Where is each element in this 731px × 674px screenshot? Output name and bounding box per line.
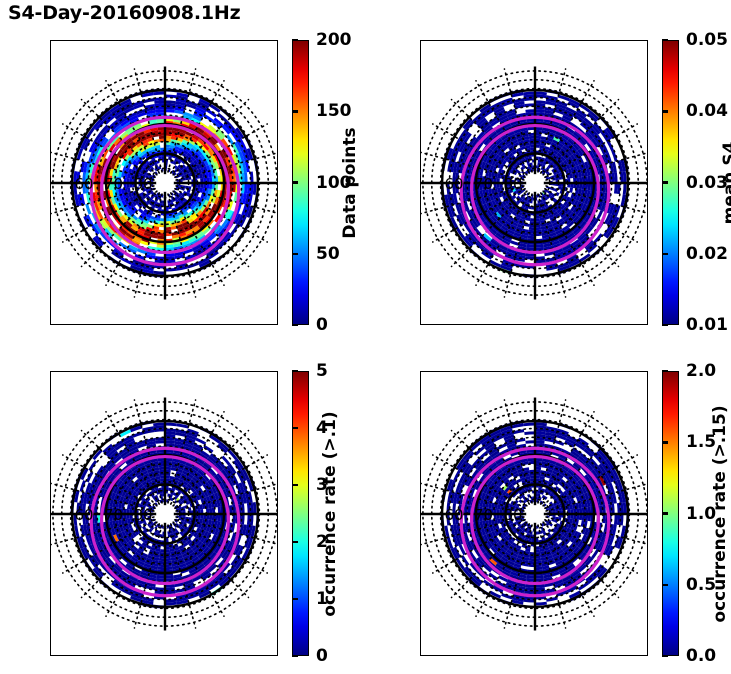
colorbar-tick <box>292 253 298 256</box>
panel-axes-data-points: 607080 <box>50 40 278 325</box>
colorbar-tick <box>662 110 668 113</box>
polar-plot-data-points: 607080 <box>51 41 278 325</box>
colorbar-tick-label: 0.02 <box>686 244 728 264</box>
colorbar-tick <box>662 370 668 373</box>
radial-tick-label: 80 <box>504 506 523 524</box>
radial-tick-label: 80 <box>134 175 153 193</box>
radial-tick-labels: 607080 <box>445 506 523 524</box>
radial-tick-label: 60 <box>75 506 94 524</box>
panel-axes-occurrence-rate-01: 607080 <box>50 371 278 656</box>
colorbar-tick <box>292 427 298 430</box>
polar-plot-mean-s4: 607080 <box>421 41 648 325</box>
colorbar-label-data-points: Data points <box>340 127 360 238</box>
colorbar-tick <box>662 512 668 515</box>
colorbar-occurrence-rate-015: 0.00.51.01.52.0 occurrence rate (>.15) <box>662 371 731 656</box>
colorbar-tick <box>662 39 668 42</box>
radial-tick-label: 80 <box>504 175 523 193</box>
figure-title: S4-Day-20160908.1Hz <box>8 2 240 24</box>
radial-tick-label: 60 <box>445 506 464 524</box>
radial-tick-labels: 607080 <box>75 506 153 524</box>
colorbar-tick-label: 5 <box>316 361 328 381</box>
colorbar-tick <box>292 484 298 487</box>
colorbar-mean-s4: 0.010.020.030.040.05 mean S4 <box>662 40 731 325</box>
figure-root: S4-Day-20160908.1Hz 607080 050100150200 … <box>0 0 731 674</box>
colorbar-tick <box>662 584 668 587</box>
radial-tick-label: 70 <box>104 175 123 193</box>
radial-tick-label: 80 <box>134 506 153 524</box>
colorbar-tick-label: 0.04 <box>686 101 728 121</box>
radial-tick-label: 70 <box>104 506 123 524</box>
colorbar-tick <box>662 324 668 327</box>
colorbar-label-occurrence-rate-01: occurrence rate (>.1) <box>320 411 340 616</box>
colorbar-tick-label: 0.0 <box>686 646 716 666</box>
radial-tick-labels: 607080 <box>445 175 523 193</box>
radial-tick-label: 60 <box>445 175 464 193</box>
colorbar-label-mean-s4: mean S4 <box>720 141 731 224</box>
radial-tick-label: 70 <box>474 506 493 524</box>
colorbar-tick <box>292 598 298 601</box>
colorbar-tick <box>662 181 668 184</box>
panel-axes-occurrence-rate-015: 607080 <box>420 371 648 656</box>
colorbar-tick <box>662 253 668 256</box>
radial-tick-label: 60 <box>75 175 94 193</box>
colorbar-tick <box>292 110 298 113</box>
colorbar-tick-label: 0 <box>316 646 328 666</box>
colorbar-tick <box>292 181 298 184</box>
colorbar-tick-label: 200 <box>316 30 352 50</box>
colorbar-tick-label: 150 <box>316 101 352 121</box>
colorbar-gradient-occurrence-rate-01 <box>292 371 309 656</box>
colorbar-tick <box>292 541 298 544</box>
colorbar-tick <box>662 655 668 658</box>
colorbar-tick <box>662 441 668 444</box>
colorbar-label-occurrence-rate-015: occurrence rate (>.15) <box>710 405 730 622</box>
colorbar-tick-label: 0 <box>316 315 328 335</box>
radial-tick-labels: 607080 <box>75 175 153 193</box>
colorbar-tick <box>292 39 298 42</box>
colorbar-occurrence-rate-01: 012345 occurrence rate (>.1) <box>292 371 362 656</box>
colorbar-tick-label: 2.0 <box>686 361 716 381</box>
panel-axes-mean-s4: 607080 <box>420 40 648 325</box>
colorbar-tick-label: 0.01 <box>686 315 728 335</box>
polar-plot-occurrence-rate-01: 607080 <box>51 372 278 656</box>
colorbar-data-points: 050100150200 Data points <box>292 40 362 325</box>
colorbar-tick <box>292 324 298 327</box>
colorbar-tick-label: 50 <box>316 244 340 264</box>
colorbar-tick-label: 0.05 <box>686 30 728 50</box>
polar-plot-occurrence-rate-015: 607080 <box>421 372 648 656</box>
colorbar-tick <box>292 655 298 658</box>
radial-tick-label: 70 <box>474 175 493 193</box>
colorbar-tick <box>292 370 298 373</box>
